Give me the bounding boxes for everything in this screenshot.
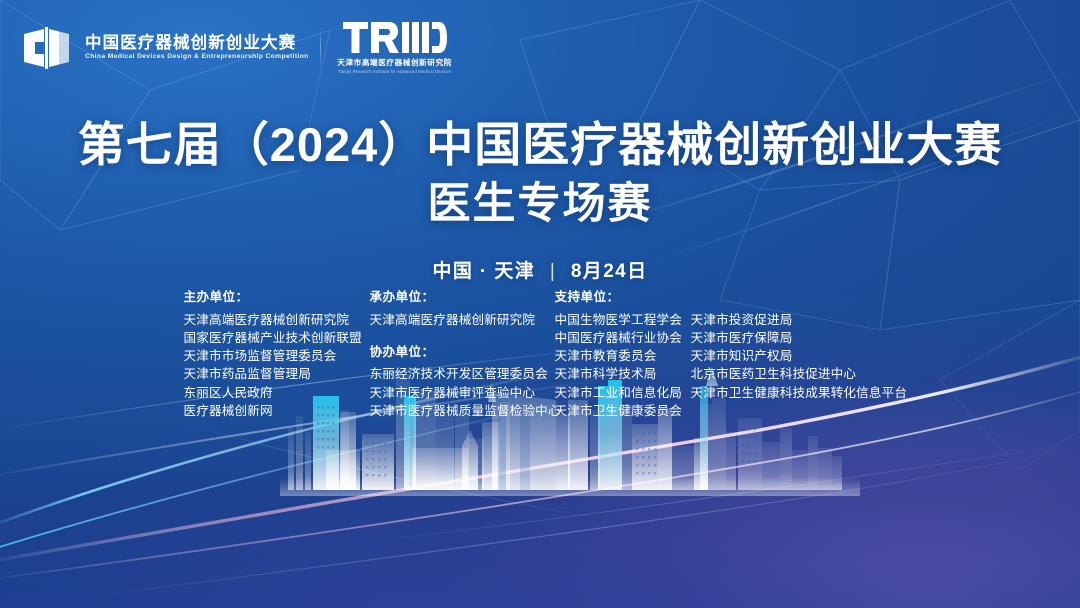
unit-item: 医疗器械创新网 bbox=[184, 402, 370, 420]
unit-group: 主办单位：天津高端医疗器械创新研究院国家医疗器械产业技术创新联盟天津市市场监督管… bbox=[184, 291, 370, 420]
unit-column-2: 承办单位：天津高端医疗器械创新研究院协办单位：东丽经济技术开发区管理委员会天津市… bbox=[370, 291, 555, 420]
unit-item: 东丽区人民政府 bbox=[184, 384, 370, 402]
unit-item: 天津市投资促进局 bbox=[691, 311, 897, 329]
unit-group: 协办单位：东丽经济技术开发区管理委员会天津市医疗器械审评查验中心天津市医疗器械质… bbox=[370, 346, 555, 420]
unit-item: 国家医疗器械产业技术创新联盟 bbox=[184, 329, 370, 347]
poster-meta-line: 中国 · 天津 | 8月24日 bbox=[0, 256, 1080, 283]
unit-column-3: 支持单位：中国生物医学工程学会中国医疗器械行业协会天津市教育委员会天津市科学技术… bbox=[555, 291, 691, 420]
unit-group-heading: 主办单位： bbox=[184, 291, 370, 304]
unit-column-4: 天津市投资促进局天津市医疗保障局天津市知识产权局北京市医药卫生科技促进中心天津市… bbox=[691, 291, 897, 420]
poster-title-sub: 医生专场赛 bbox=[0, 178, 1080, 231]
unit-item: 天津市卫生健康委员会 bbox=[555, 402, 691, 420]
unit-group-heading: 支持单位： bbox=[555, 291, 691, 304]
logo-primary-cn: 中国医疗器械创新创业大赛 bbox=[85, 35, 304, 52]
organizing-units: 主办单位：天津高端医疗器械创新研究院国家医疗器械产业技术创新联盟天津市市场监督管… bbox=[0, 291, 1080, 420]
event-poster: 中国医疗器械创新创业大赛 China Medical Devices Desig… bbox=[0, 0, 1080, 608]
meta-date: 8月24日 bbox=[571, 261, 648, 282]
unit-item: 天津市知识产权局 bbox=[691, 347, 897, 365]
logo-secondary-cn: 天津市高端医疗器械创新研究院 bbox=[337, 59, 452, 67]
unit-item: 天津高端医疗器械创新研究院 bbox=[370, 311, 555, 329]
unit-group-heading: 协办单位： bbox=[370, 346, 555, 359]
open-book-mark-icon bbox=[22, 25, 74, 71]
logo-primary-en: China Medical Devices Design & Entrepren… bbox=[85, 54, 309, 61]
unit-item: 天津市医疗器械质量监督检验中心 bbox=[370, 402, 555, 420]
unit-item: 天津市医疗器械审评查验中心 bbox=[370, 384, 555, 402]
logo-secondary-en: Tianjin Research Institute for Advanced … bbox=[338, 70, 451, 74]
unit-item: 天津市科学技术局 bbox=[555, 365, 691, 383]
unit-column-1: 主办单位：天津高端医疗器械创新研究院国家医疗器械产业技术创新联盟天津市市场监督管… bbox=[184, 291, 370, 420]
unit-group: 支持单位：中国生物医学工程学会中国医疗器械行业协会天津市教育委员会天津市科学技术… bbox=[555, 291, 691, 420]
unit-item: 天津市药品监督管理局 bbox=[184, 365, 370, 383]
unit-group: 天津市投资促进局天津市医疗保障局天津市知识产权局北京市医药卫生科技促进中心天津市… bbox=[691, 291, 897, 402]
logo-divider bbox=[320, 28, 321, 68]
unit-item: 北京市医药卫生科技促进中心 bbox=[691, 365, 897, 383]
logo-triid[interactable]: 天津市高端医疗器械创新研究院 Tianjin Research Institut… bbox=[337, 22, 452, 74]
unit-item: 中国生物医学工程学会 bbox=[555, 311, 691, 329]
unit-group: 承办单位：天津高端医疗器械创新研究院 bbox=[370, 291, 555, 329]
unit-item: 东丽经济技术开发区管理委员会 bbox=[370, 365, 555, 383]
unit-group-heading: 承办单位： bbox=[370, 291, 555, 304]
poster-title-main: 第七届（2024）中国医疗器械创新创业大赛 bbox=[0, 118, 1080, 172]
unit-item: 天津市教育委员会 bbox=[555, 347, 691, 365]
unit-item: 天津高端医疗器械创新研究院 bbox=[184, 311, 370, 329]
unit-item: 天津市工业和信息化局 bbox=[555, 384, 691, 402]
unit-item: 天津市医疗保障局 bbox=[691, 329, 897, 347]
meta-location: 中国 · 天津 bbox=[432, 261, 535, 282]
triid-wordmark-icon bbox=[343, 22, 447, 56]
unit-item: 天津市市场监督管理委员会 bbox=[184, 347, 370, 365]
header-logos: 中国医疗器械创新创业大赛 China Medical Devices Desig… bbox=[22, 22, 452, 74]
unit-item: 天津市卫生健康科技成果转化信息平台 bbox=[691, 384, 897, 402]
unit-item: 中国医疗器械行业协会 bbox=[555, 329, 691, 347]
meta-separator: | bbox=[550, 261, 556, 283]
logo-china-medical-competition[interactable]: 中国医疗器械创新创业大赛 China Medical Devices Desig… bbox=[22, 25, 304, 71]
title-block: 第七届（2024）中国医疗器械创新创业大赛 医生专场赛 bbox=[0, 118, 1080, 231]
